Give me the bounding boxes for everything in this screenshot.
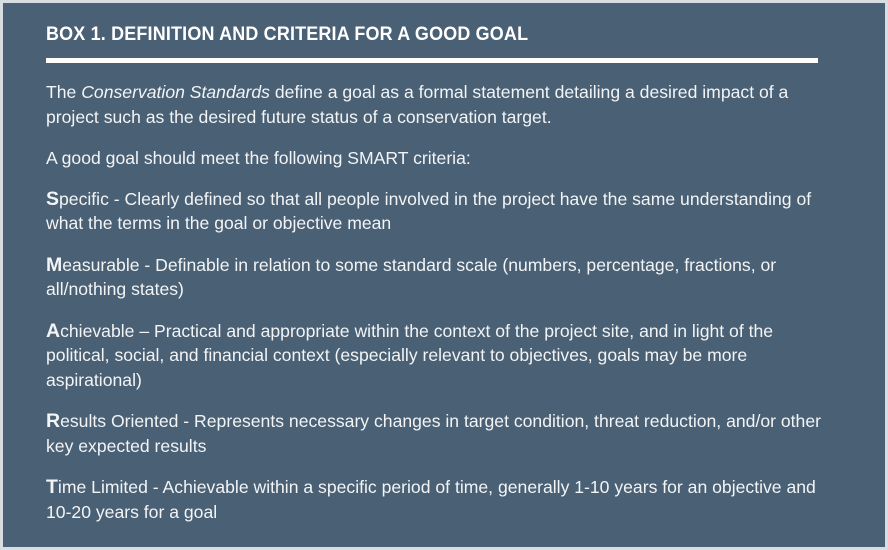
criterion-text-measurable: easurable - Definable in relation to som… bbox=[46, 255, 776, 300]
criterion-specific: Specific - Clearly defined so that all p… bbox=[46, 187, 836, 236]
intro-text-before: The bbox=[46, 82, 81, 102]
criterion-text-time-limited: ime Limited - Achievable within a specif… bbox=[46, 477, 816, 522]
criterion-text-achievable: chievable – Practical and appropriate wi… bbox=[46, 321, 773, 390]
criterion-text-specific: pecific - Clearly defined so that all pe… bbox=[46, 189, 811, 234]
criterion-initial-m: M bbox=[46, 254, 62, 276]
criterion-initial-t: T bbox=[46, 476, 58, 498]
criterion-text-results-oriented: esults Oriented - Represents necessary c… bbox=[46, 411, 821, 456]
criterion-initial-r: R bbox=[46, 410, 60, 432]
conservation-standards-term: Conservation Standards bbox=[81, 82, 270, 102]
criterion-time-limited: Time Limited - Achievable within a speci… bbox=[46, 475, 836, 524]
criterion-achievable: Achievable – Practical and appropriate w… bbox=[46, 319, 836, 393]
criterion-initial-a: A bbox=[46, 320, 60, 342]
box-inner: BOX 1. DEFINITION AND CRITERIA FOR A GOO… bbox=[3, 3, 885, 524]
criterion-results-oriented: Results Oriented - Represents necessary … bbox=[46, 409, 836, 458]
criterion-initial-s: S bbox=[46, 188, 59, 210]
box-body: The Conservation Standards define a goal… bbox=[46, 63, 851, 524]
smart-intro-paragraph: A good goal should meet the following SM… bbox=[46, 146, 836, 171]
box-title: BOX 1. DEFINITION AND CRITERIA FOR A GOO… bbox=[46, 23, 787, 46]
intro-paragraph: The Conservation Standards define a goal… bbox=[46, 80, 836, 129]
criterion-measurable: Measurable - Definable in relation to so… bbox=[46, 253, 836, 302]
callout-box: BOX 1. DEFINITION AND CRITERIA FOR A GOO… bbox=[0, 0, 888, 550]
